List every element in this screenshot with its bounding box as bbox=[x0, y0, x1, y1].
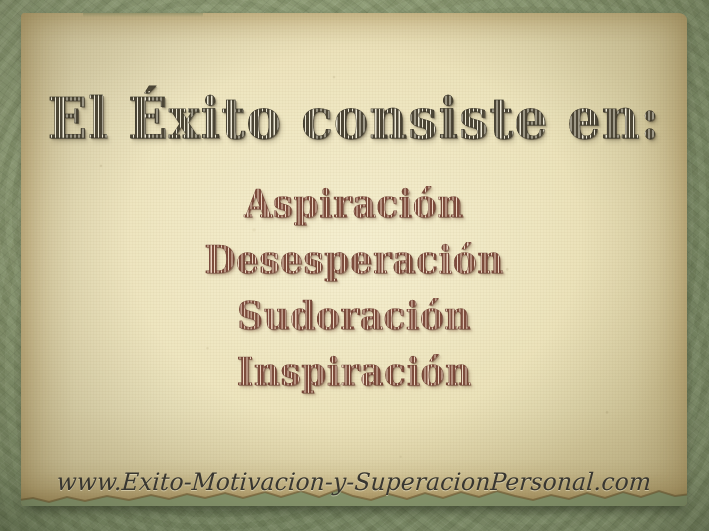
poster-content: El Éxito consiste en: Aspiración Desespe… bbox=[21, 13, 687, 506]
list-item-label: Sudoración bbox=[237, 293, 471, 339]
website-url: www.Exito-Motivacion-y-SuperacionPersona… bbox=[30, 468, 678, 496]
list-item-label: Inspiración bbox=[236, 349, 471, 395]
list-item-label: Aspiración bbox=[244, 181, 464, 227]
list-item-label: Desesperación bbox=[204, 237, 503, 283]
page-title-text: El Éxito consiste en: bbox=[48, 91, 661, 147]
list-item: Sudoración bbox=[38, 293, 671, 339]
paper-sheet: El Éxito consiste en: Aspiración Desespe… bbox=[21, 13, 687, 508]
list-item: Desesperación bbox=[38, 237, 671, 283]
list-item: Inspiración bbox=[38, 349, 671, 395]
paper-surface: El Éxito consiste en: Aspiración Desespe… bbox=[21, 13, 687, 506]
page-title: El Éxito consiste en: bbox=[44, 91, 663, 147]
list-item: Aspiración bbox=[38, 181, 671, 227]
poster-canvas: El Éxito consiste en: Aspiración Desespe… bbox=[0, 0, 709, 531]
virtue-list: Aspiración Desesperación Sudoración Insp… bbox=[21, 181, 687, 405]
